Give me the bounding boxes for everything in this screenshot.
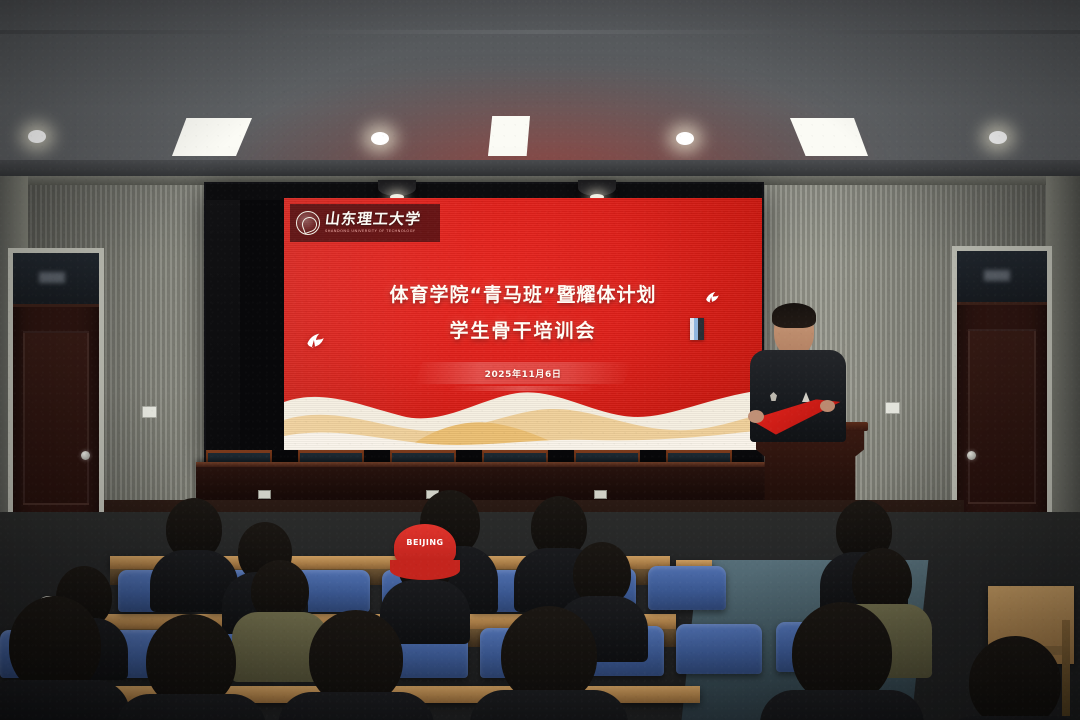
speaker-at-podium	[744, 306, 854, 436]
person-head	[792, 602, 892, 704]
university-name-en: SHANDONG UNIVERSITY OF TECHNOLOGY	[325, 230, 421, 234]
glass-reflection	[984, 270, 1010, 281]
led-display-screen: 山东理工大学 SHANDONG UNIVERSITY OF TECHNOLOGY…	[284, 198, 762, 450]
audience-person	[278, 610, 434, 720]
light-switch[interactable]	[885, 402, 900, 414]
ceiling	[0, 0, 1080, 176]
ceiling-trim-band	[0, 30, 1080, 34]
ceiling-downlight	[28, 130, 46, 143]
stage-table-edge	[196, 462, 772, 467]
ceiling-panel-light	[488, 116, 530, 156]
person-shoulders	[760, 690, 924, 720]
person-head	[969, 636, 1061, 720]
event-date: 2025年11月6日	[485, 367, 562, 380]
stage-table-outlet	[258, 490, 271, 499]
ceiling-downlight	[989, 131, 1007, 144]
event-title-line-2: 学生骨干培训会	[284, 316, 762, 343]
door-right[interactable]	[952, 246, 1052, 538]
door-panel	[968, 329, 1036, 504]
cap-logo-text: BEIJING	[406, 538, 443, 547]
university-name-cn: 山东理工大学	[324, 212, 422, 227]
event-date-banner: 2025年11月6日	[414, 362, 632, 384]
audience-seat[interactable]	[648, 566, 726, 610]
person-shoulders	[0, 680, 130, 720]
door-knob-icon[interactable]	[81, 451, 90, 460]
person-shoulders	[278, 692, 434, 720]
audience-person	[0, 596, 130, 720]
speaker-hand	[748, 410, 764, 423]
stage-spotlight	[378, 180, 416, 196]
stage-spotlight	[578, 180, 616, 196]
person-shoulders	[116, 694, 266, 720]
university-crest-icon	[296, 211, 320, 235]
audience-person	[116, 614, 266, 720]
glass-reflection	[39, 272, 65, 283]
date-accent-stripe	[448, 386, 598, 391]
door-left[interactable]	[8, 248, 104, 538]
door-panel	[23, 331, 88, 505]
door-knob-icon[interactable]	[967, 451, 976, 460]
door-transom-window	[13, 253, 99, 307]
screen-frame-pillar-left	[206, 184, 240, 462]
door-transom-window	[957, 251, 1047, 305]
lecture-hall-photo: 山东理工大学 SHANDONG UNIVERSITY OF TECHNOLOGY…	[0, 0, 1080, 720]
ceiling-downlight	[676, 132, 694, 145]
speaker-jacket	[750, 350, 846, 442]
university-logo-plaque: 山东理工大学 SHANDONG UNIVERSITY OF TECHNOLOGY	[290, 204, 440, 242]
ceiling-downlight	[371, 132, 389, 145]
audience-seat[interactable]	[676, 624, 762, 674]
person-shoulders	[940, 716, 1080, 720]
speaker-hair	[772, 303, 816, 328]
audience-person	[760, 602, 924, 720]
audience-person	[940, 636, 1080, 720]
light-switch[interactable]	[142, 406, 157, 418]
speaker-hand	[820, 400, 835, 412]
event-title-line-1: 体育学院“青马班”暨耀体计划	[284, 280, 762, 307]
cap-brim	[390, 560, 460, 580]
audience-person	[470, 606, 628, 720]
person-shoulders	[470, 690, 628, 720]
